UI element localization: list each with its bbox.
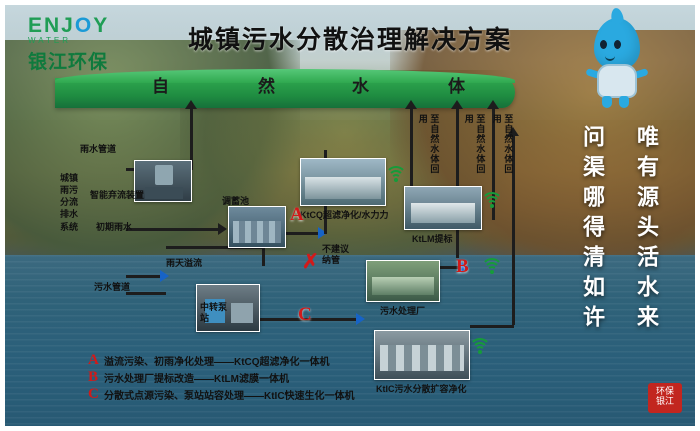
poster-root: ENJOY WATER 银江环保 城镇污水分散治理解决方案 自 然 水 体 <box>0 0 700 431</box>
poster-border <box>0 0 700 431</box>
